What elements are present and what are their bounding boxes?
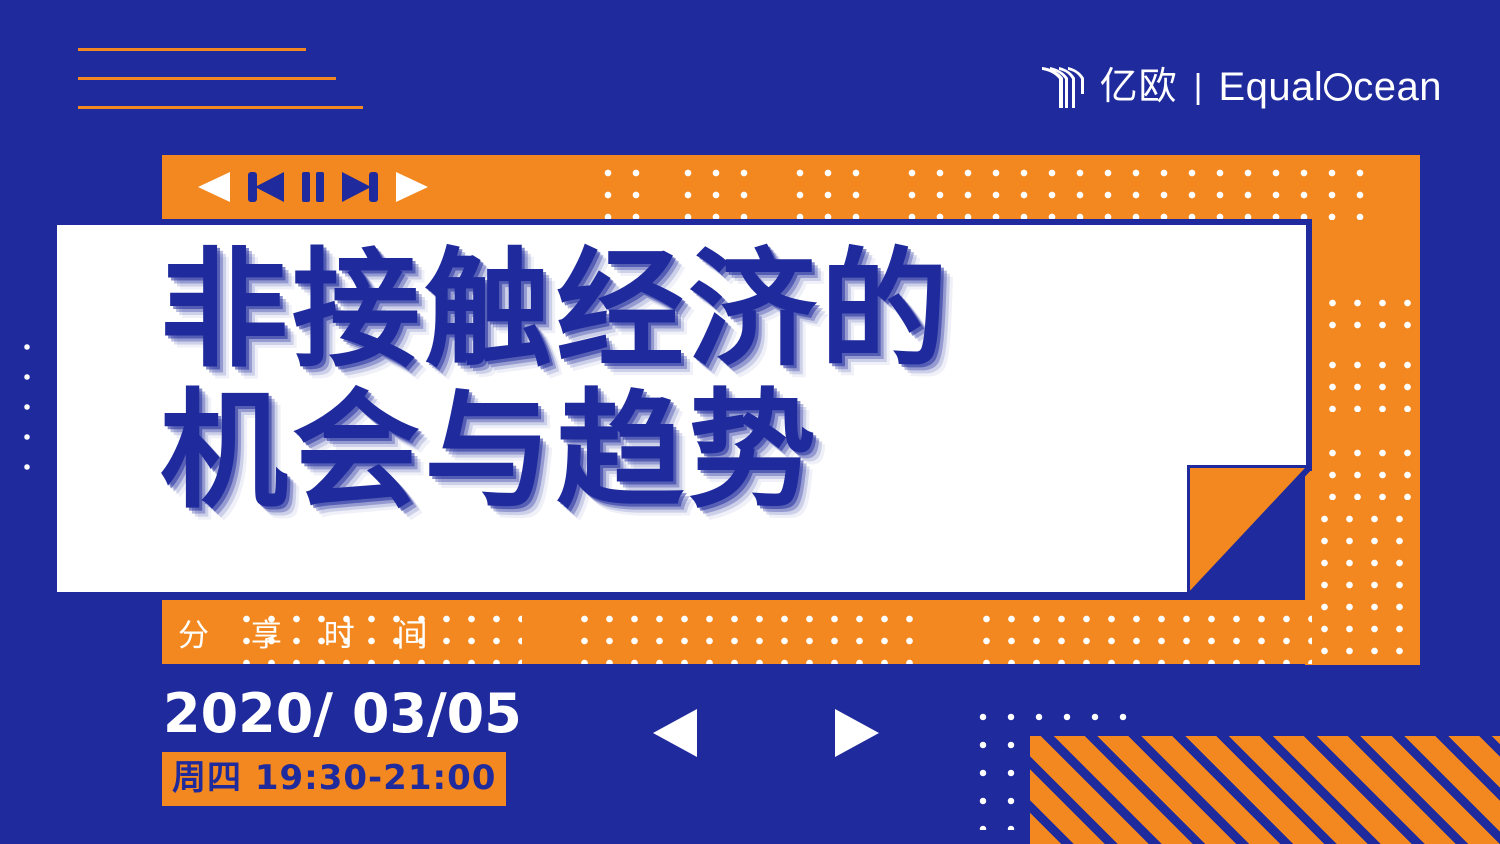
next-arrow-icon[interactable] [832, 706, 882, 765]
previous-arrow-icon[interactable] [650, 706, 700, 765]
brand-logo: 亿欧 | Equal cean [1040, 64, 1442, 110]
pause-icon[interactable] [300, 170, 326, 209]
media-controls [196, 166, 430, 212]
orange-rule-short [78, 48, 306, 51]
title-line-1: 非接触经济的 [160, 248, 1120, 373]
event-weekday-time: 周四 19:30-21:00 [162, 752, 506, 806]
share-time-label: 分 享 时 间 [178, 610, 444, 655]
yiou-sprout-logo-icon [1040, 64, 1090, 110]
orange-rule-medium [78, 77, 336, 80]
white-dot-grid [10, 330, 56, 470]
title-line-2: 机会与趋势 [160, 389, 1120, 514]
skip-next-icon[interactable] [340, 170, 380, 209]
rewind-triangle-icon[interactable] [196, 170, 232, 209]
orange-rule-long [78, 106, 363, 109]
letter-o-ring-icon [1324, 73, 1352, 101]
orange-rules-group [78, 48, 363, 135]
event-date: 2020/ 03/05 [163, 682, 522, 745]
skip-previous-icon[interactable] [246, 170, 286, 209]
orange-frame-right [1305, 155, 1420, 665]
brand-separator: | [1194, 70, 1203, 104]
brand-name-en-before: Equal [1218, 67, 1323, 107]
diagonal-stripe-block [1030, 736, 1500, 844]
poster-canvas: 亿欧 | Equal cean [0, 0, 1500, 844]
brand-name-en-after: cean [1353, 67, 1442, 107]
brand-name-en: Equal cean [1218, 67, 1442, 107]
poster-title: 非接触经济的 机会与趋势 [160, 248, 1120, 515]
play-triangle-icon[interactable] [394, 170, 430, 209]
brand-name-cn: 亿欧 [1100, 68, 1178, 106]
